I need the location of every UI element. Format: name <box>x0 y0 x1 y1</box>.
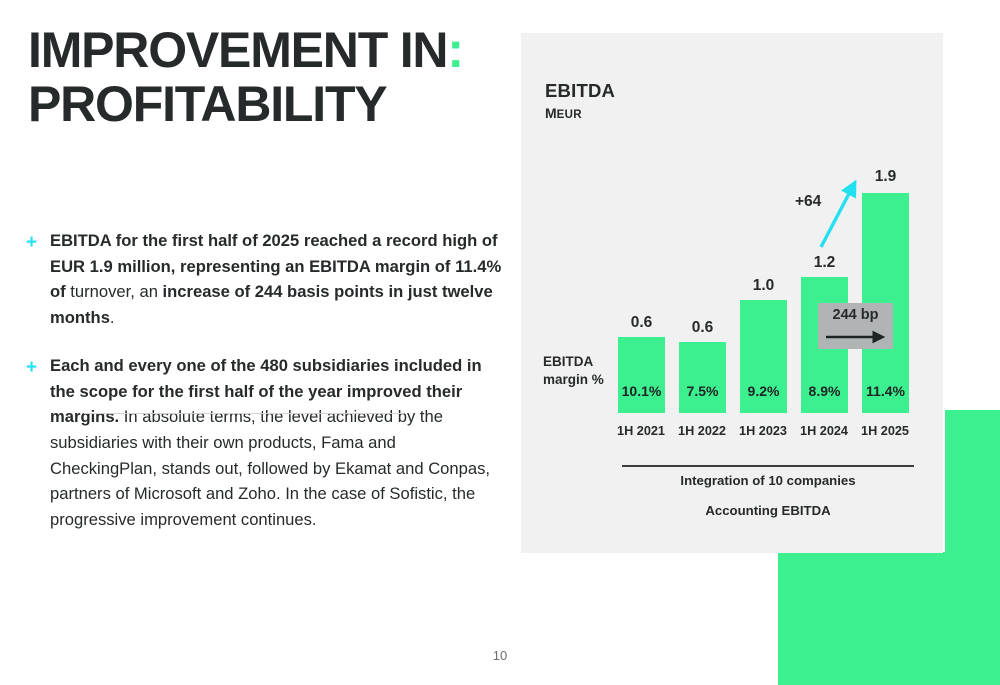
page-title: IMPROVEMENT IN: PROFITABILITY <box>28 24 488 131</box>
footer-integration-note: Integration of 10 companies <box>622 473 914 488</box>
margin-pct-1h-2025: 11.4% <box>862 383 909 399</box>
bullet-item-1: + EBITDA for the first half of 2025 reac… <box>26 228 506 331</box>
category-label-1h-2025: 1H 2025 <box>853 424 917 438</box>
callout-label: 244 bp <box>818 307 893 323</box>
chart-subtitle: MEUR <box>545 105 582 121</box>
page-number: 10 <box>470 648 530 663</box>
chart-subtitle-currency: EUR <box>557 109 582 121</box>
margin-pct-1h-2023: 9.2% <box>740 383 787 399</box>
category-label-1h-2022: 1H 2022 <box>670 424 734 438</box>
bullet-item-2: + Each and every one of the 480 subsidia… <box>26 353 506 533</box>
bar-value-1h-2023: 1.0 <box>740 277 787 295</box>
chart-title: EBITDA <box>545 80 615 102</box>
bullet-list: + EBITDA for the first half of 2025 reac… <box>26 228 506 555</box>
bullet-1-segment-2: turnover, an <box>70 282 162 301</box>
chart-subtitle-unit: M <box>545 105 557 121</box>
bar-1h-2021 <box>618 337 665 413</box>
bar-value-1h-2021: 0.6 <box>618 314 665 332</box>
y-axis-label: EBITDA margin % <box>543 353 613 389</box>
bar-value-1h-2022: 0.6 <box>679 319 726 337</box>
growth-arrow-icon <box>812 175 867 260</box>
footer-divider <box>622 465 914 467</box>
bullet-1-segment-4: . <box>110 308 115 327</box>
plus-bullet-icon: + <box>26 229 37 257</box>
margin-pct-1h-2024: 8.9% <box>801 383 848 399</box>
category-label-1h-2023: 1H 2023 <box>731 424 795 438</box>
category-label-1h-2021: 1H 2021 <box>609 424 673 438</box>
footer-accounting-note: Accounting EBITDA <box>622 503 914 518</box>
decorative-green-block <box>778 552 1000 685</box>
chart-baseline <box>84 413 404 414</box>
page-title-line-2: PROFITABILITY <box>28 76 386 132</box>
page-title-line-1: IMPROVEMENT IN <box>28 22 447 78</box>
right-arrow-icon <box>824 330 888 344</box>
category-label-1h-2024: 1H 2024 <box>792 424 856 438</box>
margin-improvement-callout: 244 bp <box>818 303 893 349</box>
slide-root: IMPROVEMENT IN: PROFITABILITY + EBITDA f… <box>0 0 1000 685</box>
plus-bullet-icon: + <box>26 354 37 382</box>
margin-pct-1h-2021: 10.1% <box>618 383 665 399</box>
bar-value-1h-2025: 1.9 <box>862 168 909 186</box>
page-title-colon: : <box>447 22 462 78</box>
bar-1h-2022 <box>679 342 726 413</box>
margin-pct-1h-2022: 7.5% <box>679 383 726 399</box>
